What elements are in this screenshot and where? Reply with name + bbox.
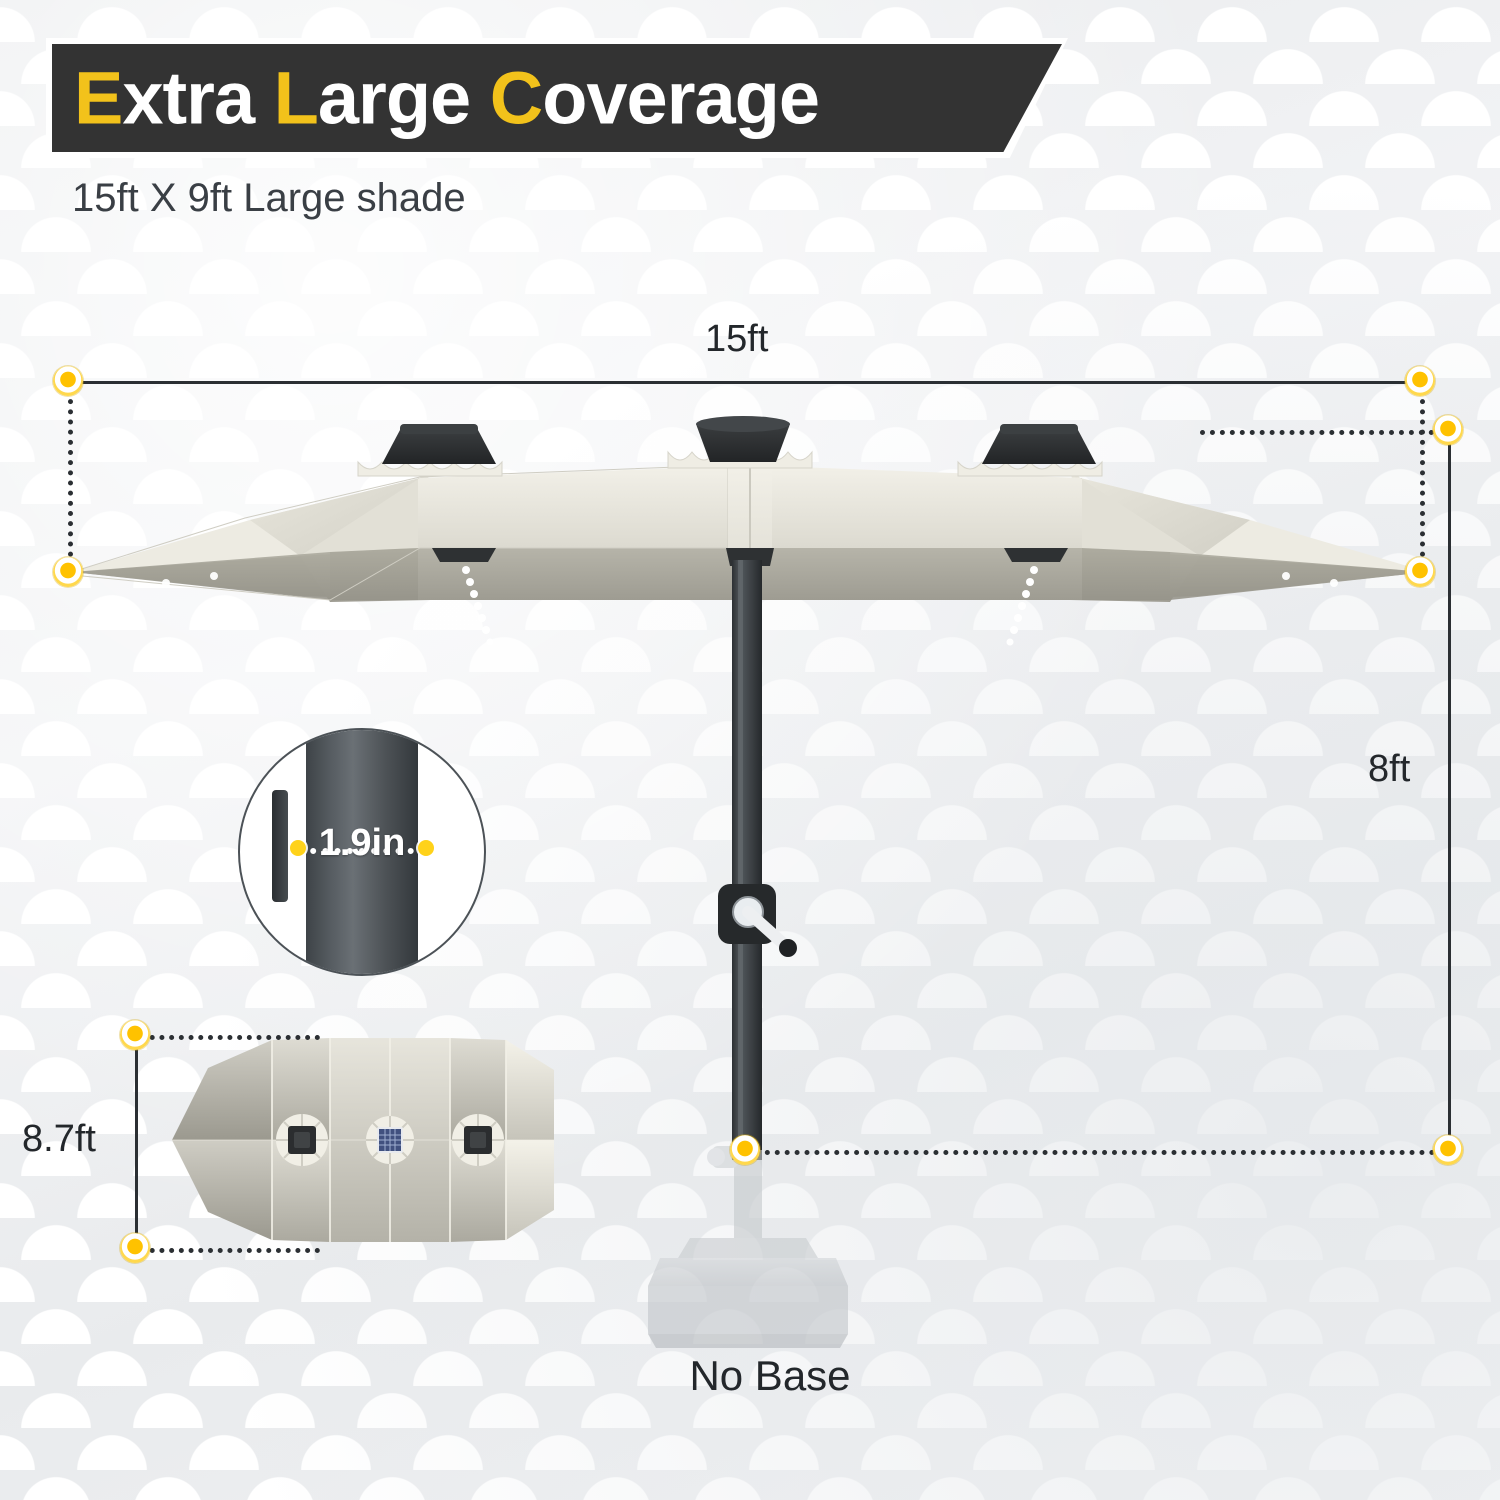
subtitle: 15ft X 9ft Large shade <box>72 176 466 221</box>
top-view-solar-panel <box>366 1116 414 1164</box>
dimension-label-width: 15ft <box>705 318 768 361</box>
dimension-label-depth: 8.7ft <box>22 1118 96 1161</box>
dimension-marker-pole-bottom <box>730 1135 760 1165</box>
pole-diameter-marker-left <box>290 840 306 856</box>
pole-diameter-marker-right <box>418 840 434 856</box>
dimension-line-height <box>1448 438 1451 1150</box>
page-title-segment: L <box>274 57 318 140</box>
dimension-label-height: 8ft <box>1368 748 1410 791</box>
dimension-marker-canopy-right <box>1405 557 1435 587</box>
topview-dimension-line <box>135 1035 138 1248</box>
pole-clip-detail <box>272 790 288 902</box>
page-title: Extra Large Coverage <box>74 56 819 141</box>
page-title-segment: xtra <box>122 57 273 140</box>
topview-guide-bottom <box>140 1248 320 1253</box>
top-view-vent-right <box>452 1114 504 1166</box>
dimension-marker-canopy-left <box>53 557 83 587</box>
dimension-line-width <box>68 381 1420 384</box>
dimension-guide-height-top <box>1200 430 1444 435</box>
topview-marker-bottom <box>120 1233 150 1263</box>
dimension-marker-height-bottom <box>1433 1135 1463 1165</box>
no-base-label: No Base <box>645 1352 895 1400</box>
page-title-segment: C <box>490 57 542 140</box>
dimension-guide-right <box>1420 389 1425 567</box>
header-banner: Extra Large Coverage <box>52 44 1062 152</box>
dimension-marker-top-left <box>53 366 83 396</box>
page-title-segment: E <box>74 57 122 140</box>
page-title-segment: overage <box>542 57 819 140</box>
topview-guide-top <box>140 1035 320 1040</box>
dimension-marker-top-right <box>1405 366 1435 396</box>
dimension-marker-height-top <box>1433 415 1463 445</box>
dimension-guide-left <box>68 389 73 567</box>
background-shading <box>0 0 1500 1500</box>
top-view-vent-left <box>276 1114 328 1166</box>
page-title-segment: arge <box>318 57 490 140</box>
pole-diameter-label: 1.9in <box>319 822 406 865</box>
dimension-guide-height-bottom <box>745 1150 1445 1155</box>
pole-diameter-inset: 1.9in <box>238 728 486 976</box>
topview-marker-top <box>120 1020 150 1050</box>
umbrella-top-view <box>150 1020 570 1260</box>
